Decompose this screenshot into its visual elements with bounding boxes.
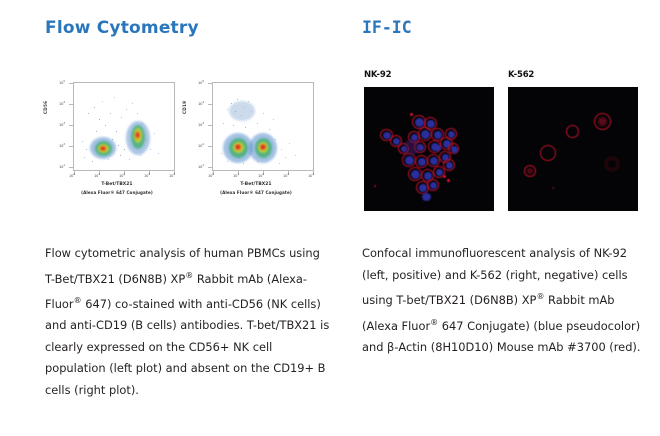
if-ic-figure: NK-92 K-562 xyxy=(362,68,654,216)
flow-cytometry-figure: CD56 105 104 103 102 101 xyxy=(45,76,335,206)
flow-plot-cd56-y-axis-label: CD56 xyxy=(43,101,48,114)
flow-plot-cd56: CD56 105 104 103 102 101 xyxy=(47,76,187,206)
flow-plot-cd19-x-axis-label: T-Bet/TBX21 xyxy=(240,182,271,187)
flow-plot-cd56-frame xyxy=(73,82,175,171)
flow-cytometry-caption: Flow cytometric analysis of human PBMCs … xyxy=(45,243,333,401)
flow-plot-cd19: CD19 105 104 103 102 101 xyxy=(186,76,326,206)
flow-plot-cd19-frame xyxy=(212,82,314,171)
page-title-flow-cytometry: Flow Cytometry xyxy=(45,0,350,46)
flow-plot-cd19-y-axis-label: CD19 xyxy=(182,101,187,114)
flow-plot-cd56-x-axis-sublabel: (Alexa Fluor® 647 Conjugate) xyxy=(47,189,187,197)
flow-plot-cd19-x-axis-sublabel: (Alexa Fluor® 647 Conjugate) xyxy=(186,189,326,197)
flow-plot-cd56-x-axis-caption: T-Bet/TBX21 (Alexa Fluor® 647 Conjugate) xyxy=(47,181,187,196)
flow-cytometry-column: Flow Cytometry CD56 105 104 103 102 101 xyxy=(45,0,350,46)
flow-caption-registered-2: ® xyxy=(74,296,82,305)
if-caption-registered-2: ® xyxy=(430,318,438,327)
if-panel-label-k562: K-562 xyxy=(508,70,534,80)
figure-page: Flow Cytometry CD56 105 104 103 102 101 xyxy=(0,0,660,436)
page-title-if-ic: IF-IC xyxy=(362,0,660,46)
flow-plot-cd19-x-axis-caption: T-Bet/TBX21 (Alexa Fluor® 647 Conjugate) xyxy=(186,181,326,196)
if-panel-nk92 xyxy=(364,87,494,211)
if-panel-k562 xyxy=(508,87,638,211)
flow-plot-cd56-x-axis-label: T-Bet/TBX21 xyxy=(101,182,132,187)
if-ic-caption: Confocal immunofluorescent analysis of N… xyxy=(362,243,650,358)
flow-caption-part3: 647) co-stained with anti-CD56 (NK cells… xyxy=(45,297,329,397)
if-ic-column: IF-IC NK-92 K-562 xyxy=(362,0,660,46)
if-panel-label-nk92: NK-92 xyxy=(364,70,391,80)
